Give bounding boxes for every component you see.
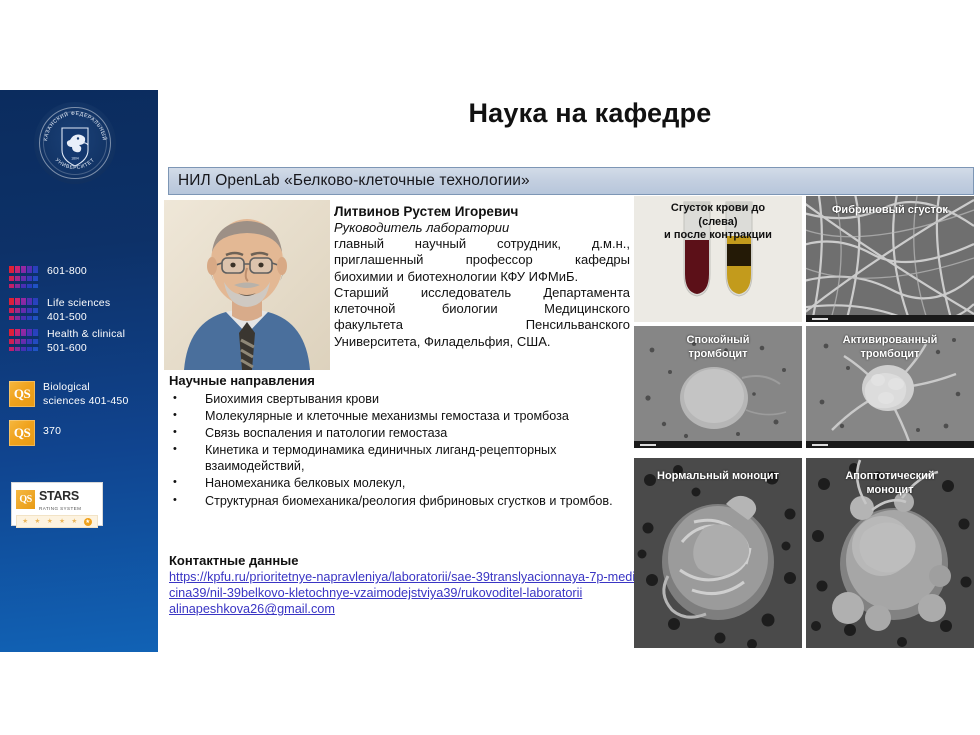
person-bio: Литвинов Рустем Игоревич Руководитель ла… <box>334 204 630 350</box>
bio-line: клеточной биологии Медицинского <box>334 301 630 317</box>
rankings-list: 601-800 Life sciences 401-500 <box>0 265 158 455</box>
ranking-label: 601-800 <box>39 265 87 279</box>
qs-stars-badge: QS STARS RATING SYSTEM ★ ★ ★ ★ ★ ★ <box>11 482 103 526</box>
image-caption: Спокойный тромбоцит <box>634 334 802 361</box>
person-name: Литвинов Рустем Игоревич <box>334 204 630 220</box>
list-item: Структурная биомеханика/реология фибрино… <box>169 493 631 509</box>
micrograph-grid: Сгусток крови до (слева) и после контрак… <box>634 196 974 648</box>
star-icon: ★ <box>59 517 65 526</box>
svg-text:1804: 1804 <box>71 157 79 161</box>
scale-bar <box>806 315 974 322</box>
qs-logo-icon: QS <box>9 381 35 407</box>
the-logo-icon <box>9 266 39 288</box>
bio-line: главный научный сотрудник, д.м.н., <box>334 236 630 252</box>
ranking-label: Biological sciences 401-450 <box>35 381 129 408</box>
the-logo-icon <box>9 298 39 320</box>
the-logo-icon <box>9 329 39 351</box>
qs-stars-rating-bar: ★ ★ ★ ★ ★ ★ <box>16 515 98 528</box>
image-caption: Нормальный моноцит <box>634 470 802 484</box>
scale-bar <box>806 441 974 448</box>
ranking-row-the-health-clinical: Health & clinical 501-600 <box>0 328 158 355</box>
bio-line: Старший исследователь Департамента <box>334 285 630 301</box>
qs-stars-title: STARS <box>39 489 79 503</box>
ranking-row-the-life-sciences: Life sciences 401-500 <box>0 297 158 324</box>
sidebar: КАЗАНСКИЙ ФЕДЕРАЛЬНЫЙ УНИВЕРСИТЕТ 1804 <box>0 90 158 652</box>
star-icon: ★ <box>22 517 28 526</box>
ranking-label: Life sciences 401-500 <box>39 297 110 324</box>
research-directions-list: Биохимия свертывания крови Молекулярные … <box>169 391 631 509</box>
image-cell-normal-monocyte: Нормальный моноцит <box>634 458 802 648</box>
image-cell-activated-platelet: Активированный тромбоцит <box>806 326 974 448</box>
list-item: Кинетика и термодинамика единичных лиган… <box>169 442 631 474</box>
ranking-label: Health & clinical 501-600 <box>39 328 125 355</box>
lab-website-link[interactable]: https://kpfu.ru/prioritetnye-napravleniy… <box>169 569 639 601</box>
ranking-row-qs-biological: QS Biological sciences 401-450 <box>0 381 158 408</box>
list-item: Биохимия свертывания крови <box>169 391 631 407</box>
qs-stars-subtitle: RATING SYSTEM <box>39 505 81 512</box>
person-bio-text: главный научный сотрудник, д.м.н., пригл… <box>334 236 630 350</box>
star-icon: ★ <box>35 517 41 526</box>
bio-line: биохимии и биотехнологии КФУ ИФМиБ. <box>334 269 630 285</box>
research-directions: Научные направления Биохимия свертывания… <box>169 373 631 510</box>
presentation-slide: КАЗАНСКИЙ ФЕДЕРАЛЬНЫЙ УНИВЕРСИТЕТ 1804 <box>0 0 980 735</box>
star-icon: ★ <box>47 517 53 526</box>
contact-details: Контактные данные https://kpfu.ru/priori… <box>169 553 639 618</box>
contact-heading: Контактные данные <box>169 553 639 569</box>
list-item: Молекулярные и клеточные механизмы гемос… <box>169 408 631 424</box>
image-caption: Сгусток крови до (слева) и после контрак… <box>634 202 802 243</box>
star-icon: ★ <box>71 517 77 526</box>
list-item: Наномеханика белковых молекул, <box>169 475 631 491</box>
image-cell-apoptotic-monocyte: Апоптотический моноцит <box>806 458 974 648</box>
image-cell-blood-clot-tubes: Сгусток крови до (слева) и после контрак… <box>634 196 802 322</box>
bio-line: факультета Пенсильванского <box>334 317 630 333</box>
image-cell-resting-platelet: Спокойный тромбоцит <box>634 326 802 448</box>
page-title: Наука на кафедре <box>210 98 970 129</box>
lab-header-label: НИЛ OpenLab «Белково-клеточные технологи… <box>169 168 973 190</box>
research-directions-heading: Научные направления <box>169 373 631 389</box>
star-icon-active: ★ <box>84 518 92 526</box>
email-link[interactable]: alinapeshkova26@gmail.com <box>169 601 639 617</box>
ranking-row-the-overall: 601-800 <box>0 265 158 288</box>
ranking-label: 370 <box>35 420 61 439</box>
list-item: Связь воспаления и патологии гемостаза <box>169 425 631 441</box>
image-cell-fibrin-clot: Фибриновый сгусток <box>806 196 974 322</box>
bio-line: Университета, Филадельфия, США. <box>334 334 630 350</box>
kfu-emblem: КАЗАНСКИЙ ФЕДЕРАЛЬНЫЙ УНИВЕРСИТЕТ 1804 <box>34 102 116 184</box>
qs-logo-icon: QS <box>9 420 35 446</box>
bio-line: приглашенный профессор кафедры <box>334 252 630 268</box>
litvinov-portrait <box>164 200 330 370</box>
image-caption: Фибриновый сгусток <box>806 204 974 218</box>
qs-mark-icon: QS <box>16 490 35 509</box>
lab-header-bar: НИЛ OpenLab «Белково-клеточные технологи… <box>168 167 974 195</box>
ranking-row-qs-overall: QS 370 <box>0 420 158 446</box>
scale-bar <box>634 441 802 448</box>
image-caption: Активированный тромбоцит <box>806 334 974 361</box>
person-role: Руководитель лаборатории <box>334 220 630 236</box>
image-caption: Апоптотический моноцит <box>806 470 974 497</box>
